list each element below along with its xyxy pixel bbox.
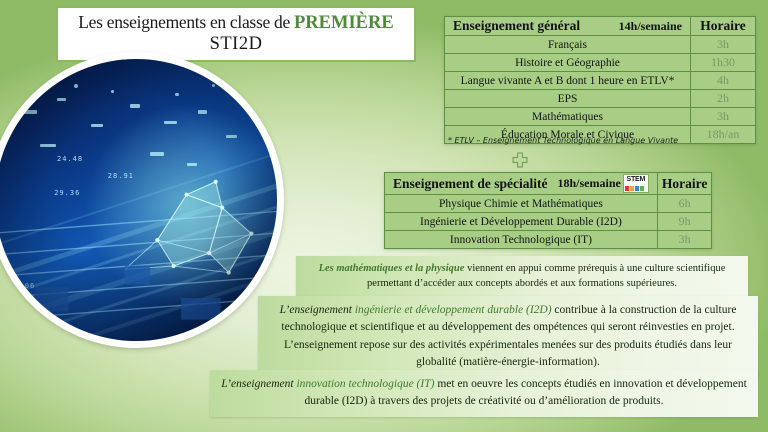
hours-cell: 3h (691, 36, 756, 54)
general-header-horaire: Horaire (691, 17, 756, 36)
table-row: Français 3h (445, 36, 756, 54)
hours-cell: 3h (657, 231, 711, 249)
general-header-title: Enseignement général (453, 18, 580, 34)
panel-i2d-emphasis: ingénierie et développement durable (I2D… (355, 304, 552, 316)
hours-cell: 9h (657, 213, 711, 231)
slide-canvas: Les enseignements en classe de PREMIÈRE … (0, 0, 768, 432)
spec-header-horaire: Horaire (657, 173, 711, 195)
circular-photo-frame: 24.48 28.91 29.36 23.06 12.41 (0, 52, 284, 348)
general-header-title-cell: Enseignement général 14h/semaine (445, 17, 691, 36)
technology-network-image: 24.48 28.91 29.36 23.06 12.41 (0, 59, 277, 341)
stem-badge-icon: STEM (623, 174, 649, 193)
stem-badge-label: STEM (624, 175, 648, 184)
hours-cell: 6h (657, 195, 711, 213)
subject-cell: Innovation Technologique (IT) (385, 231, 658, 249)
table-row: Ingénierie et Développement Durable (I2D… (385, 213, 712, 231)
plus-cross-icon (512, 152, 528, 168)
table-header-row: Enseignement général 14h/semaine Horaire (445, 17, 756, 36)
hours-cell: 2h (691, 90, 756, 108)
hours-cell: 4h (691, 72, 756, 90)
title-line1-plain: Les enseignements en classe de (78, 12, 294, 32)
panel-it-prefix: L’enseignement (221, 378, 296, 390)
table-row: Mathématiques 3h (445, 108, 756, 126)
title-line1-highlight: PREMIÈRE (294, 13, 394, 33)
panel-i2d: L’enseignement ingénierie et développeme… (258, 296, 758, 377)
table-row: EPS 2h (445, 90, 756, 108)
table-row: Langue vivante A et B dont 1 heure en ET… (445, 72, 756, 90)
subject-cell: Mathématiques (445, 108, 691, 126)
subject-cell: Ingénierie et Développement Durable (I2D… (385, 213, 658, 231)
subject-cell: Français (445, 36, 691, 54)
subject-cell: EPS (445, 90, 691, 108)
panel-innovation-technologique: L’enseignement innovation technologique … (210, 370, 758, 417)
table-row: Physique Chimie et Mathématiques 6h (385, 195, 712, 213)
subject-cell: Histoire et Géographie (445, 54, 691, 72)
table-row: Histoire et Géographie 1h30 (445, 54, 756, 72)
hours-cell: 3h (691, 108, 756, 126)
panel-i2d-prefix: L’enseignement (280, 304, 355, 316)
subject-cell: Physique Chimie et Mathématiques (385, 195, 658, 213)
panel-it-emphasis: innovation technologique (IT) (296, 378, 434, 390)
panel-mathematiques: Les mathématiques et la physique viennen… (296, 256, 748, 296)
page-title: Les enseignements en classe de PREMIÈRE … (72, 13, 399, 54)
etlv-footnote: * ETLV – Enseignement Technologique en L… (448, 136, 748, 145)
general-header-hours-week: 14h/semaine (619, 19, 682, 34)
spec-header-title: Enseignement de spécialité (393, 176, 548, 192)
table-enseignement-general: Enseignement général 14h/semaine Horaire… (444, 16, 756, 144)
hours-cell: 1h30 (691, 54, 756, 72)
spec-header-title-cell: Enseignement de spécialité 18h/semaine S… (385, 173, 658, 195)
table-header-row: Enseignement de spécialité 18h/semaine S… (385, 173, 712, 195)
panel-math-emphasis: Les mathématiques et la physique (319, 263, 465, 274)
table-enseignement-specialite: Enseignement de spécialité 18h/semaine S… (384, 172, 712, 249)
subject-cell: Langue vivante A et B dont 1 heure en ET… (445, 72, 691, 90)
table-row: Innovation Technologique (IT) 3h (385, 231, 712, 249)
spec-header-hours-week: 18h/semaine (558, 176, 621, 191)
